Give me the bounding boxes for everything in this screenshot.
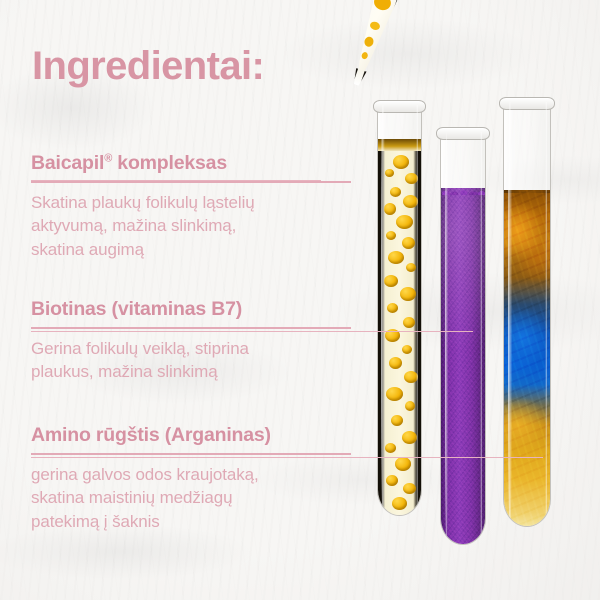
oil-bubble [391,415,403,426]
description-line: patekimą į šaknis [31,510,351,533]
pipette-body [347,0,403,78]
oil-bubble [395,457,411,471]
oil-surface [378,139,421,151]
oil-bubble [390,187,401,197]
test-tube-oil [377,100,422,516]
tube-rim [436,127,490,140]
description-line: Skatina plaukų folikulų ląstelių [31,191,351,214]
oil-bubble [385,169,394,177]
test-tube-ink [503,97,551,527]
ingredient-block-baicapil: Baicapil® kompleksas Skatina plaukų foli… [31,152,351,261]
description-line: plaukus, mažina slinkimą [31,360,351,383]
infographic-canvas: Ingredientai: Baicapil® kompleksas Skati… [0,0,600,600]
oil-bubble [388,251,404,264]
oil-bubble [393,155,409,169]
description-line: skatina augimą [31,238,351,261]
description-line: skatina maistinių medžiagų [31,486,351,509]
page-title: Ingredientai: [32,46,264,86]
oil-bubble [404,371,418,383]
ingredient-heading-main: Baicapil [31,152,104,174]
oil-bubble [405,401,415,411]
pipette-tip [351,68,367,87]
heading-rule [31,453,351,455]
dropper-pipette-icon [336,0,405,93]
ingredient-heading-rest: kompleksas [112,152,227,174]
oil-bubble [386,231,396,240]
ingredient-heading: Amino rūgštis (Arganinas) [31,424,351,447]
heading-rule [31,327,351,329]
ingredient-heading: Biotinas (vitaminas B7) [31,298,351,321]
tube-fill-powder [441,188,485,544]
test-tube-purple-powder [440,127,486,545]
ingredient-description: Gerina folikulų veiklą, stiprina plaukus… [31,337,351,384]
description-line: aktyvumą, mažina slinkimą, [31,214,351,237]
leader-line-biotinas [31,331,473,332]
oil-bubble [384,203,396,215]
ingredient-heading: Baicapil® kompleksas [31,152,351,175]
registered-trademark-icon: ® [104,153,112,165]
oil-bubble [403,317,415,328]
ingredient-description: Skatina plaukų folikulų ląstelių aktyvum… [31,191,351,261]
description-line: Gerina folikulų veiklą, stiprina [31,337,351,360]
tube-fill-ink [504,190,550,526]
oil-bubble [402,345,412,354]
ink-swirl-texture [504,190,550,526]
tube-glass [503,102,551,527]
oil-bubble [402,431,417,444]
tube-fill-oil [378,139,421,515]
oil-bubble [403,483,416,494]
tube-glass [440,132,486,545]
oil-bubble [396,215,413,229]
oil-bubble [400,287,416,301]
tube-rim [499,97,555,110]
tube-glass [377,105,422,516]
oil-bubble [405,173,418,184]
oil-bubble [384,275,398,287]
leader-line-amino [31,457,543,458]
oil-bubble [386,475,398,486]
oil-bubble [403,195,418,208]
leader-line-baicapil [31,180,321,181]
oil-bubble [392,497,407,510]
tube-rim [373,100,426,113]
description-line: gerina galvos odos kraujotaką, [31,463,351,486]
oil-bubble [385,443,396,453]
ingredient-block-biotinas: Biotinas (vitaminas B7) Gerina folikulų … [31,298,351,384]
oil-bubble [386,387,403,401]
oil-bubble [402,237,415,249]
oil-bubble [387,303,398,313]
ingredient-block-amino-rugstis: Amino rūgštis (Arganinas) gerina galvos … [31,424,351,533]
ingredient-description: gerina galvos odos kraujotaką, skatina m… [31,463,351,533]
powder-grain-texture [441,188,485,544]
oil-bubble [389,357,402,369]
oil-bubble [406,263,416,272]
